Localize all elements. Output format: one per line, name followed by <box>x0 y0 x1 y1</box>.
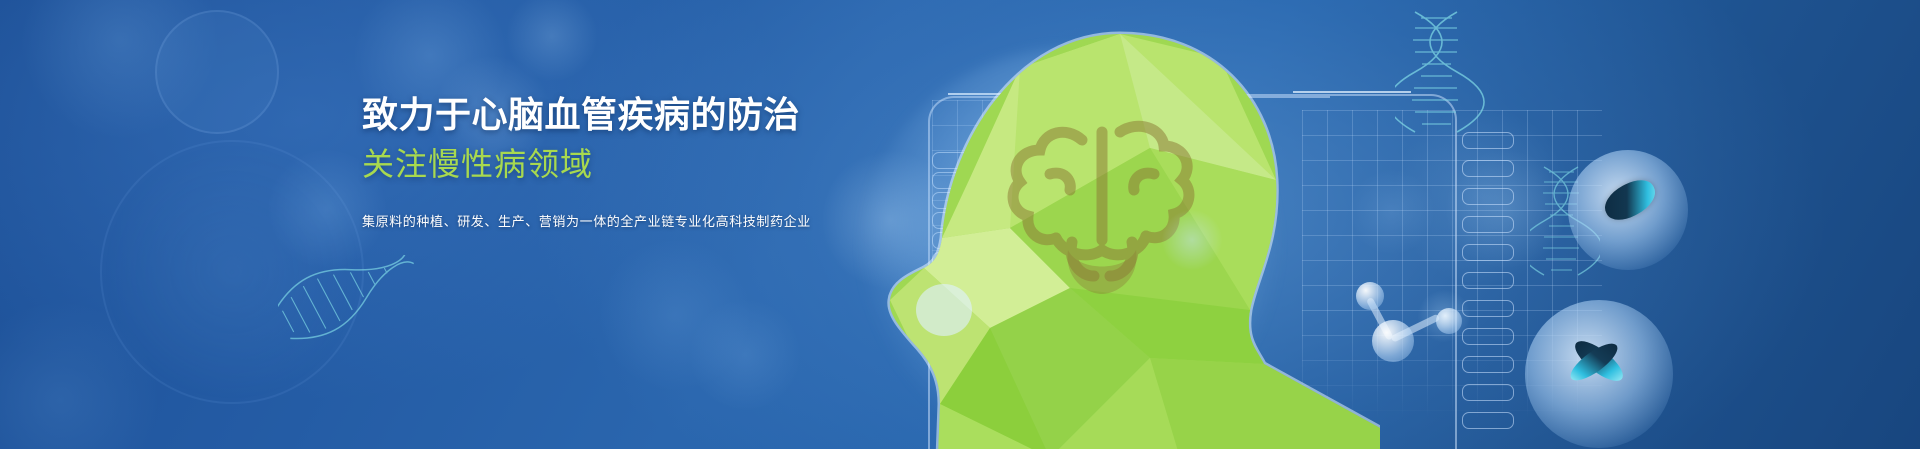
hud-right-bar <box>1462 300 1514 317</box>
bokeh-circle <box>1392 106 1572 286</box>
hero-text-block: 致力于心脑血管疾病的防治 关注慢性病领域 集原料的种植、研发、生产、营销为一体的… <box>362 96 822 232</box>
bokeh-circle <box>1418 290 1470 342</box>
bokeh-circle <box>1446 150 1564 268</box>
hud-right-panel <box>1180 94 1457 449</box>
hud-left-bar <box>932 212 1008 229</box>
hud-right-bar <box>1462 216 1514 233</box>
molecule-node <box>1436 308 1462 334</box>
hud-grid-left <box>932 100 1132 330</box>
bokeh-circle <box>506 0 598 82</box>
bokeh-circle <box>820 150 960 290</box>
hud-left-bar <box>932 232 1008 249</box>
bokeh-circle <box>600 240 750 390</box>
hud-left-bar <box>932 172 1008 189</box>
page-subtitle: 关注慢性病领域 <box>362 147 822 182</box>
page-title: 致力于心脑血管疾病的防治 <box>362 96 822 135</box>
hud-right-tick <box>1293 91 1411 93</box>
hud-right-bar <box>1462 356 1514 373</box>
bokeh-circle <box>1350 170 1434 254</box>
ear-shape <box>916 284 972 336</box>
hud-right-bar <box>1462 384 1514 401</box>
hud-right-bar <box>1462 132 1514 149</box>
cell-core <box>1569 334 1628 387</box>
head-illustration <box>820 28 1380 449</box>
hud-left-bar <box>932 152 1008 169</box>
cell-core <box>1599 173 1662 227</box>
head-outline <box>890 34 1380 449</box>
hud-right-bar <box>1462 160 1514 177</box>
brain-stem <box>1068 250 1137 294</box>
bokeh-circle <box>100 140 364 404</box>
hud-right-bar <box>1462 272 1514 289</box>
hud-right-bar <box>1462 188 1514 205</box>
dna-helix-right-icon <box>1530 165 1600 280</box>
cell-core <box>1565 337 1622 386</box>
bokeh-circle <box>20 0 220 140</box>
hud-left-tick <box>948 93 1098 95</box>
bokeh-circle <box>155 10 279 134</box>
dna-helix-bottom-left-icon <box>278 255 428 355</box>
dna-helix-top-right-icon <box>1395 10 1485 140</box>
hud-left-bar <box>932 252 1008 269</box>
hud-right-bar <box>1462 244 1514 261</box>
hud-right-bar <box>1462 328 1514 345</box>
hud-grid-right <box>1302 110 1602 420</box>
molecule-node <box>1372 320 1414 362</box>
hud-right-bar <box>1462 412 1514 429</box>
brain-icon <box>1013 126 1189 276</box>
hud-left-panel <box>928 96 1330 449</box>
head-polygons <box>820 28 1380 449</box>
hud-left-bar <box>932 192 1008 209</box>
bokeh-circle <box>1162 210 1222 270</box>
bokeh-circle <box>0 300 160 449</box>
bokeh-circle <box>690 300 800 410</box>
bokeh-circle <box>1142 94 1182 134</box>
page-tagline: 集原料的种植、研发、生产、营销为一体的全产业链专业化高科技制药企业 <box>362 212 822 232</box>
molecule-bond <box>1390 314 1440 343</box>
molecule-bond <box>1366 297 1394 341</box>
hero-banner: 致力于心脑血管疾病的防治 关注慢性病领域 集原料的种植、研发、生产、营销为一体的… <box>0 0 1920 449</box>
head-glow <box>860 48 1280 449</box>
molecule-node <box>1356 282 1384 310</box>
